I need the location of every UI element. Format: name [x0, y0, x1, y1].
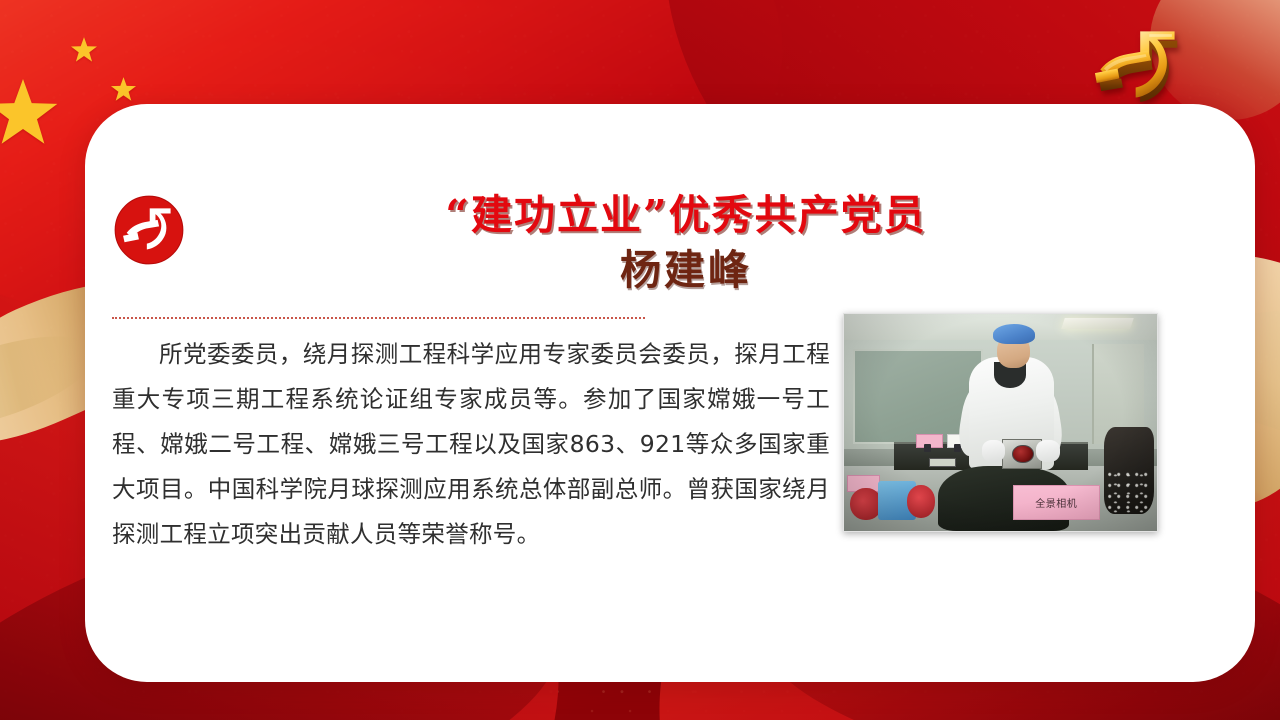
flag-star-small-1	[70, 36, 98, 64]
biography-paragraph: 所党委委员，绕月探测工程科学应用专家委员会委员，探月工程重大专项三期工程系统论证…	[112, 332, 830, 557]
party-emblem-gold-icon	[1086, 26, 1198, 112]
content-card: “建功立业”优秀共产党员 杨建峰 所党委委员，绕月探测工程科学应用专家委员会委员…	[85, 104, 1255, 682]
slide-root: “建功立业”优秀共产党员 杨建峰 所党委委员，绕月探测工程科学应用专家委员会委员…	[0, 0, 1280, 720]
flag-star-large	[0, 76, 60, 150]
page-subtitle-name: 杨建峰	[175, 244, 1197, 297]
title-texts: “建功立业”优秀共产党员 杨建峰	[175, 190, 1197, 297]
photo-frame: 全景相机	[843, 313, 1158, 532]
page-title: “建功立业”优秀共产党员	[175, 190, 1197, 240]
flag-star-small-2	[110, 76, 137, 103]
photo-vignette	[844, 314, 1157, 531]
title-block: “建功立业”优秀共产党员 杨建峰	[107, 190, 1197, 297]
divider	[112, 317, 645, 319]
photo-scientist-with-panoramic-camera: 全景相机	[844, 314, 1157, 531]
